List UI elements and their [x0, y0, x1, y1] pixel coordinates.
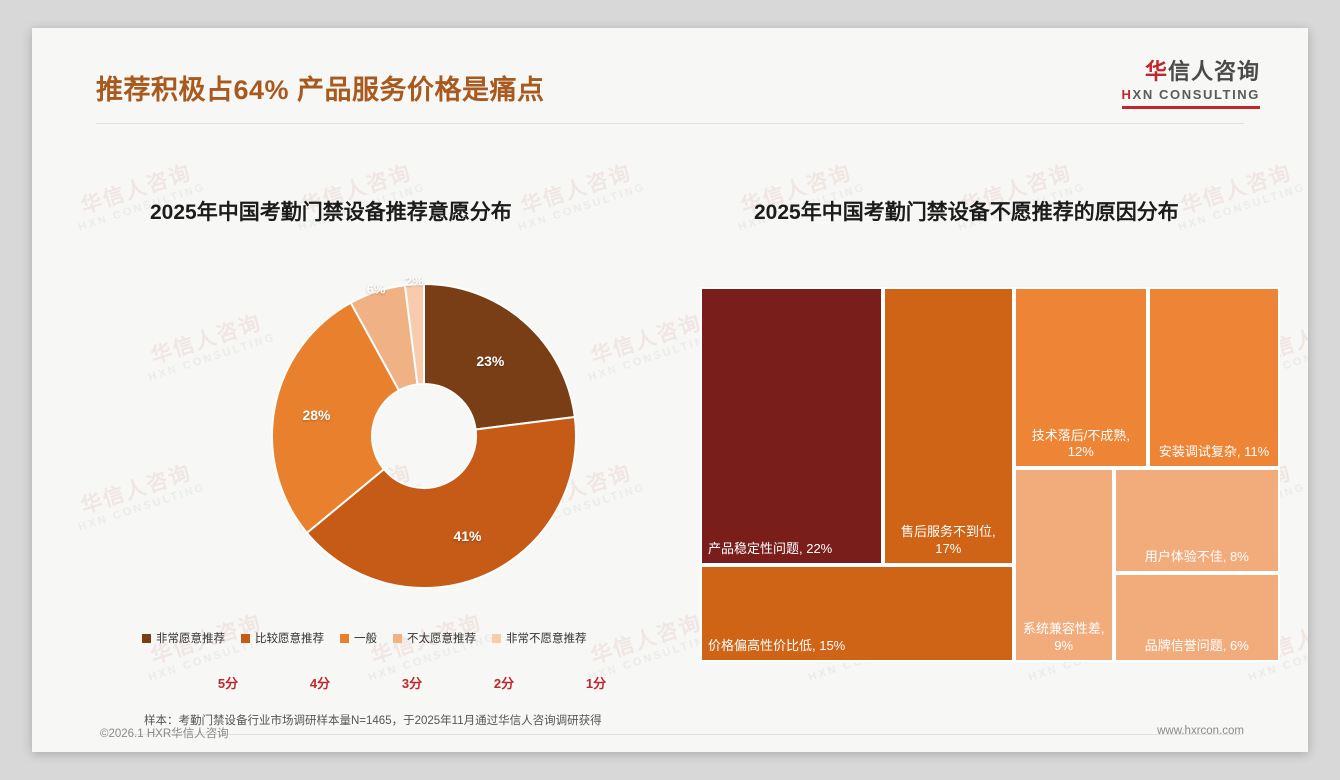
legend-label: 不太愿意推荐: [407, 630, 476, 646]
treemap-cell-label: 品牌信誉问题, 6%: [1145, 638, 1249, 654]
treemap-cell-label: 产品稳定性问题, 22%: [708, 541, 832, 557]
legend-item[interactable]: 非常愿意推荐: [142, 630, 225, 646]
left-chart-title: 2025年中国考勤门禁设备推荐意愿分布: [150, 196, 512, 226]
score-label: 3分: [366, 673, 458, 692]
watermark-text: 华信人咨询HXN CONSULTING: [140, 308, 278, 384]
treemap-cell[interactable]: 价格偏高性价比低, 15%: [700, 565, 1014, 662]
brand-logo: 华信人咨询 HXN CONSULTING: [1122, 60, 1260, 109]
legend-swatch-icon: [241, 634, 250, 643]
donut-legend: 非常愿意推荐比较愿意推荐一般不太愿意推荐非常不愿意推荐: [142, 630, 702, 646]
donut-slice-label: 2%: [405, 274, 424, 289]
logo-underline-bar: [1122, 106, 1260, 109]
legend-item[interactable]: 不太愿意推荐: [393, 630, 476, 646]
header-divider: [96, 123, 1244, 124]
legend-swatch-icon: [393, 634, 402, 643]
legend-item[interactable]: 一般: [340, 630, 377, 646]
logo-english: HXN CONSULTING: [1122, 87, 1260, 102]
legend-swatch-icon: [340, 634, 349, 643]
legend-swatch-icon: [492, 634, 501, 643]
donut-slice-label: 6%: [367, 281, 386, 296]
treemap-cell[interactable]: 品牌信誉问题, 6%: [1114, 573, 1280, 662]
legend-swatch-icon: [142, 634, 151, 643]
watermark-text: 华信人咨询HXN CONSULTING: [1170, 158, 1308, 234]
treemap-cell[interactable]: 售后服务不到位, 17%: [883, 287, 1014, 565]
legend-label: 非常愿意推荐: [156, 630, 225, 646]
donut-slice-label: 23%: [476, 353, 504, 369]
logo-rest-chars: 信人咨询: [1168, 59, 1260, 84]
logo-chinese: 华信人咨询: [1122, 60, 1260, 84]
legend-label: 一般: [354, 630, 377, 646]
treemap-cell-label: 系统兼容性差, 9%: [1022, 621, 1106, 654]
donut-slice-label: 28%: [302, 407, 330, 423]
donut-slice-label: 41%: [453, 528, 481, 544]
treemap-chart: 产品稳定性问题, 22%售后服务不到位, 17%价格偏高性价比低, 15%技术落…: [700, 287, 1280, 662]
watermark-text: 华信人咨询HXN CONSULTING: [510, 158, 648, 234]
right-chart-title: 2025年中国考勤门禁设备不愿推荐的原因分布: [754, 196, 1179, 226]
score-label: 1分: [550, 673, 642, 692]
footer-website[interactable]: www.hxrcon.com: [1157, 725, 1244, 737]
treemap-cell-label: 价格偏高性价比低, 15%: [708, 638, 845, 654]
score-label: 4分: [274, 673, 366, 692]
logo-en-rest: XN CONSULTING: [1133, 87, 1260, 102]
donut-chart-svg: [264, 276, 584, 596]
treemap-cell-label: 技术落后/不成熟, 12%: [1022, 428, 1140, 461]
score-scale-row: 5分4分3分2分1分: [182, 673, 642, 692]
donut-chart: 23%41%28%6%2%: [264, 276, 584, 596]
legend-label: 比较愿意推荐: [255, 630, 324, 646]
legend-item[interactable]: 非常不愿意推荐: [492, 630, 587, 646]
treemap-cell-label: 售后服务不到位, 17%: [891, 524, 1006, 557]
page-title: 推荐积极占64% 产品服务价格是痛点: [96, 68, 545, 107]
treemap-cell[interactable]: 用户体验不佳, 8%: [1114, 468, 1280, 573]
legend-label: 非常不愿意推荐: [506, 630, 587, 646]
legend-item[interactable]: 比较愿意推荐: [241, 630, 324, 646]
treemap-cell[interactable]: 产品稳定性问题, 22%: [700, 287, 883, 565]
logo-en-accent: H: [1122, 87, 1133, 102]
slide-canvas: 华信人咨询HXN CONSULTING华信人咨询HXN CONSULTING华信…: [32, 28, 1308, 752]
footer-copyright: ©2026.1 HXR华信人咨询: [100, 725, 229, 741]
treemap-cell-label: 安装调试复杂, 11%: [1159, 444, 1269, 460]
treemap-cell[interactable]: 安装调试复杂, 11%: [1148, 287, 1280, 468]
slide-footer: ©2026.1 HXR华信人咨询 www.hxrcon.com: [32, 718, 1308, 752]
score-label: 2分: [458, 673, 550, 692]
score-label: 5分: [182, 673, 274, 692]
treemap-cell[interactable]: 技术落后/不成熟, 12%: [1014, 287, 1148, 468]
watermark-text: 华信人咨询HXN CONSULTING: [70, 458, 208, 534]
logo-accent-char: 华: [1145, 59, 1168, 84]
treemap-cell[interactable]: 系统兼容性差, 9%: [1014, 468, 1114, 662]
watermark-text: 华信人咨询HXN CONSULTING: [580, 308, 718, 384]
slide-header: 推荐积极占64% 产品服务价格是痛点 华信人咨询 HXN CONSULTING: [32, 28, 1308, 126]
treemap-cell-label: 用户体验不佳, 8%: [1145, 549, 1249, 565]
